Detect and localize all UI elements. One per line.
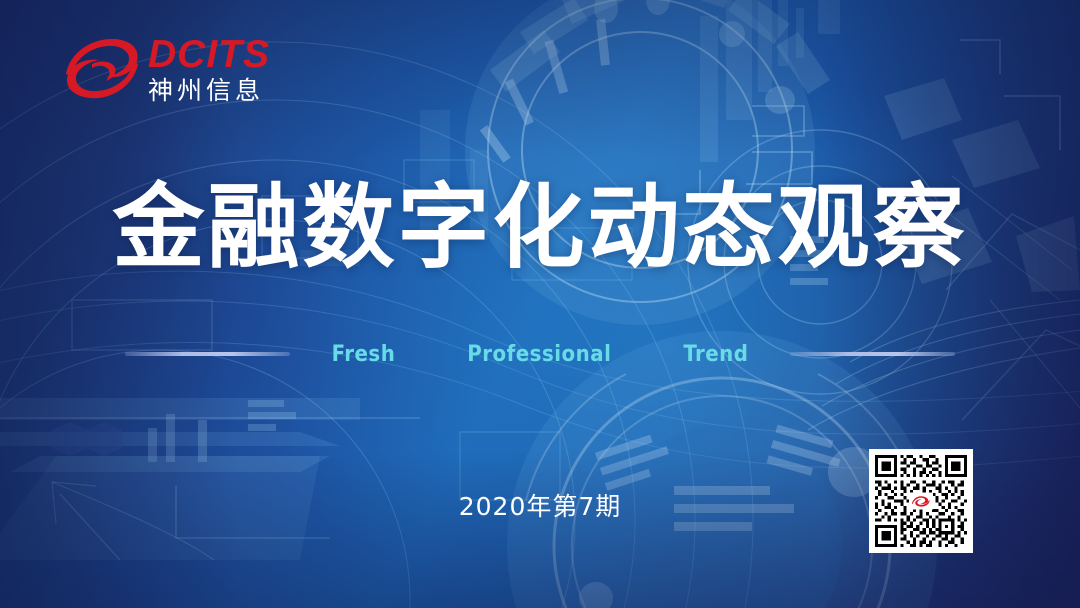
brand-wordmark: DCITS 神州信息 xyxy=(148,31,270,106)
dcits-swoosh-icon xyxy=(62,30,142,106)
qr-center-logo xyxy=(909,493,933,510)
tagline-rule-left xyxy=(125,352,290,356)
tagline-rule-right xyxy=(790,352,955,356)
tagline-item-trend: Trend xyxy=(683,342,748,367)
brand-name-en: DCITS xyxy=(148,35,270,74)
wechat-qr-code[interactable] xyxy=(869,449,973,553)
page-title: 金融数字化动态观察 xyxy=(0,182,1080,274)
poster-canvas: DCITS 神州信息 金融数字化动态观察 Fresh Professional … xyxy=(0,0,1080,608)
brand-name-cn: 神州信息 xyxy=(148,77,270,106)
tagline-row: Fresh Professional Trend xyxy=(0,338,1080,370)
tagline-item-professional: Professional xyxy=(467,342,611,367)
tagline-item-fresh: Fresh xyxy=(332,342,396,367)
brand-logo[interactable]: DCITS 神州信息 xyxy=(62,30,270,106)
